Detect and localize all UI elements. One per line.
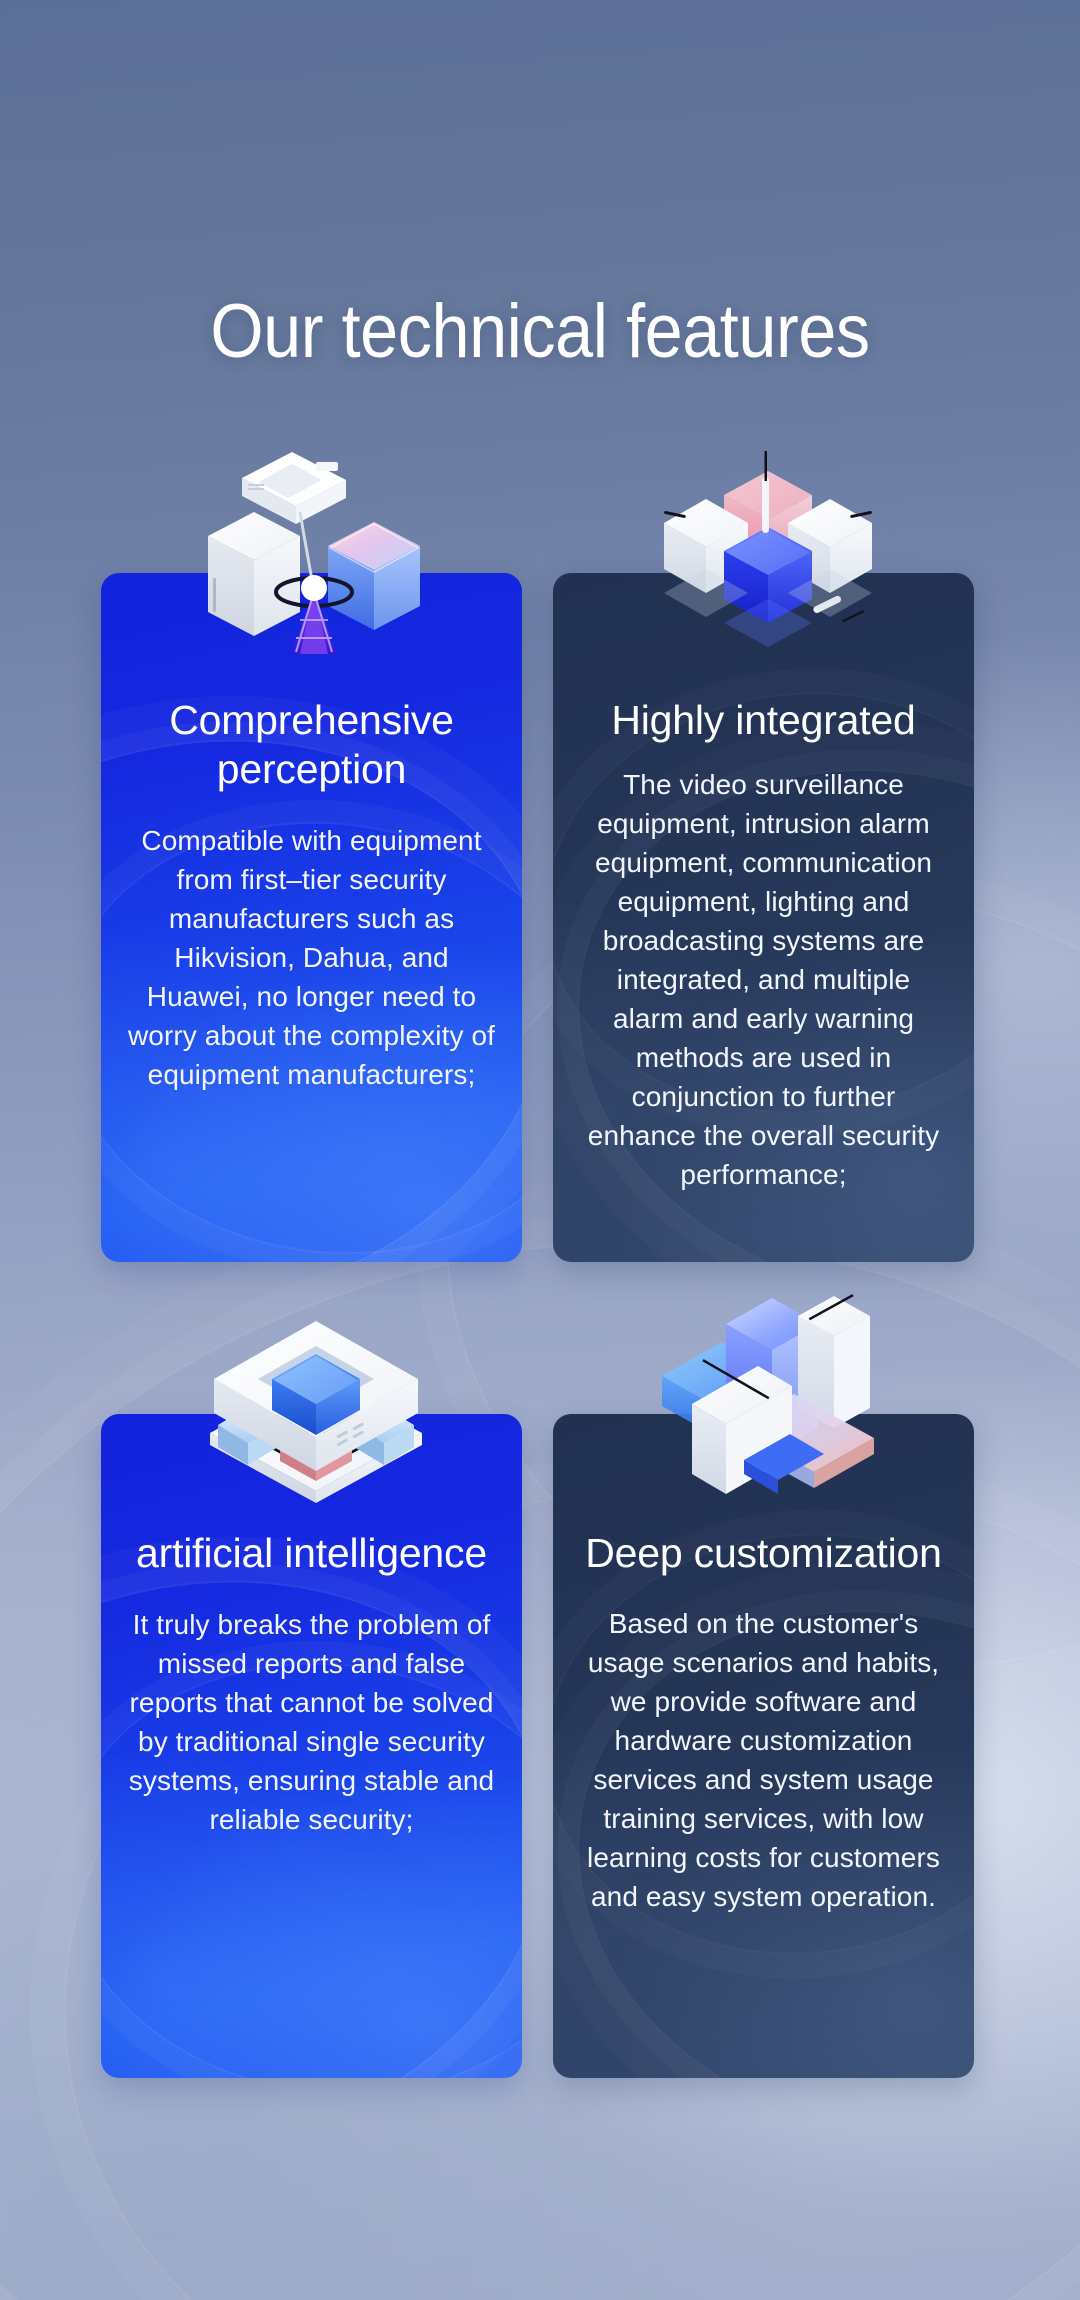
feature-section: Our technical features Comprehensive per… xyxy=(0,0,1080,2300)
page-title: Our technical features xyxy=(54,289,1026,375)
feature-card-comprehensive-perception[interactable]: Comprehensive perception Compatible with… xyxy=(101,573,522,1262)
card-body: Compatible with equipment from first–tie… xyxy=(127,821,496,1094)
card-title: Deep customization xyxy=(579,1529,948,1578)
feature-card-deep-customization[interactable]: Deep customization Based on the customer… xyxy=(553,1414,974,2078)
white-right-slab-shape xyxy=(798,1294,870,1428)
card-title: artificial intelligence xyxy=(127,1529,496,1578)
card-body: Based on the customer's usage scenarios … xyxy=(579,1604,948,1916)
feature-card-artificial-intelligence[interactable]: artificial intelligence It truly breaks … xyxy=(101,1414,522,2078)
card-title: Comprehensive perception xyxy=(127,696,496,794)
card-body: The video surveillance equipment, intrus… xyxy=(579,765,948,1194)
pink-cube-shape xyxy=(724,471,812,563)
white-device-tray-shape xyxy=(242,452,346,524)
card-body: It truly breaks the problem of missed re… xyxy=(127,1605,496,1839)
card-title: Highly integrated xyxy=(579,696,948,745)
feature-card-highly-integrated[interactable]: Highly integrated The video surveillance… xyxy=(553,573,974,1262)
